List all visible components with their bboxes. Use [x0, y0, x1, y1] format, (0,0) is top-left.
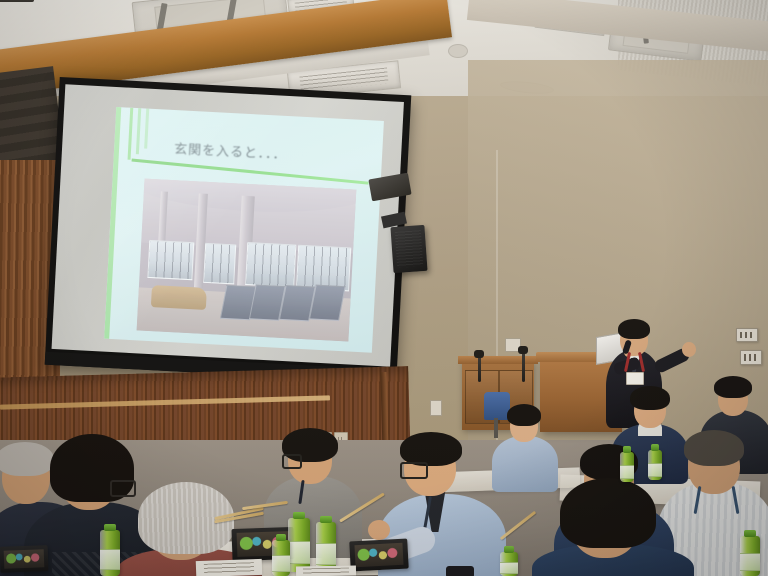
microphone-head-icon	[518, 346, 528, 354]
wristwatch-icon	[446, 566, 474, 576]
list-item	[538, 486, 688, 576]
bento-lunch-box	[0, 545, 48, 573]
conference-room-photo: 玄関を入ると．．．	[0, 0, 768, 576]
wall-speaker	[390, 225, 427, 273]
microphone-stand	[478, 356, 481, 382]
screen-surface: 玄関を入ると．．．	[52, 84, 404, 366]
green-tea-bottle	[620, 452, 634, 482]
screen-roller-housing	[0, 0, 34, 2]
name-badge	[626, 372, 644, 385]
wall-plaque	[740, 350, 762, 365]
microphone-head-icon	[474, 350, 484, 358]
attendee-hair	[400, 432, 462, 466]
presenter-hand	[682, 342, 696, 357]
cabinet-top	[458, 356, 538, 364]
microphone-stand	[522, 352, 525, 382]
wall-outlet[interactable]	[430, 400, 442, 416]
presenter-hair	[618, 319, 650, 339]
attendee-hair	[684, 430, 744, 466]
bento-lunch-box	[349, 539, 408, 572]
slide-title: 玄関を入ると．．．	[174, 138, 365, 167]
attendee-hand	[368, 520, 390, 540]
slide-accent-band	[104, 107, 121, 339]
slide-photo-lobby	[137, 179, 357, 342]
ceiling-light-fixture	[448, 44, 468, 58]
attendee-hair	[560, 478, 656, 548]
handout-document[interactable]	[196, 559, 263, 576]
projected-slide: 玄関を入ると．．．	[104, 107, 384, 353]
green-tea-bottle	[500, 552, 518, 576]
green-tea-bottle	[316, 522, 336, 572]
green-tea-bottle	[740, 536, 760, 576]
wall-plaque	[736, 328, 758, 342]
green-tea-bottle	[648, 450, 662, 480]
eyeglasses-icon	[400, 462, 428, 479]
slide-accent-bar	[144, 109, 149, 149]
attendee-hair	[507, 404, 541, 426]
green-tea-bottle	[100, 530, 120, 576]
projection-screen: 玄関を入ると．．．	[45, 77, 412, 383]
attendee-hair	[630, 386, 670, 410]
green-tea-bottle	[288, 518, 310, 572]
attendee-hair	[714, 376, 752, 398]
slide-accent-bar	[136, 108, 141, 154]
green-tea-bottle	[272, 540, 290, 576]
slide-accent-bar	[128, 108, 134, 160]
handout-document[interactable]	[296, 565, 356, 576]
eyeglasses-icon	[282, 454, 302, 469]
